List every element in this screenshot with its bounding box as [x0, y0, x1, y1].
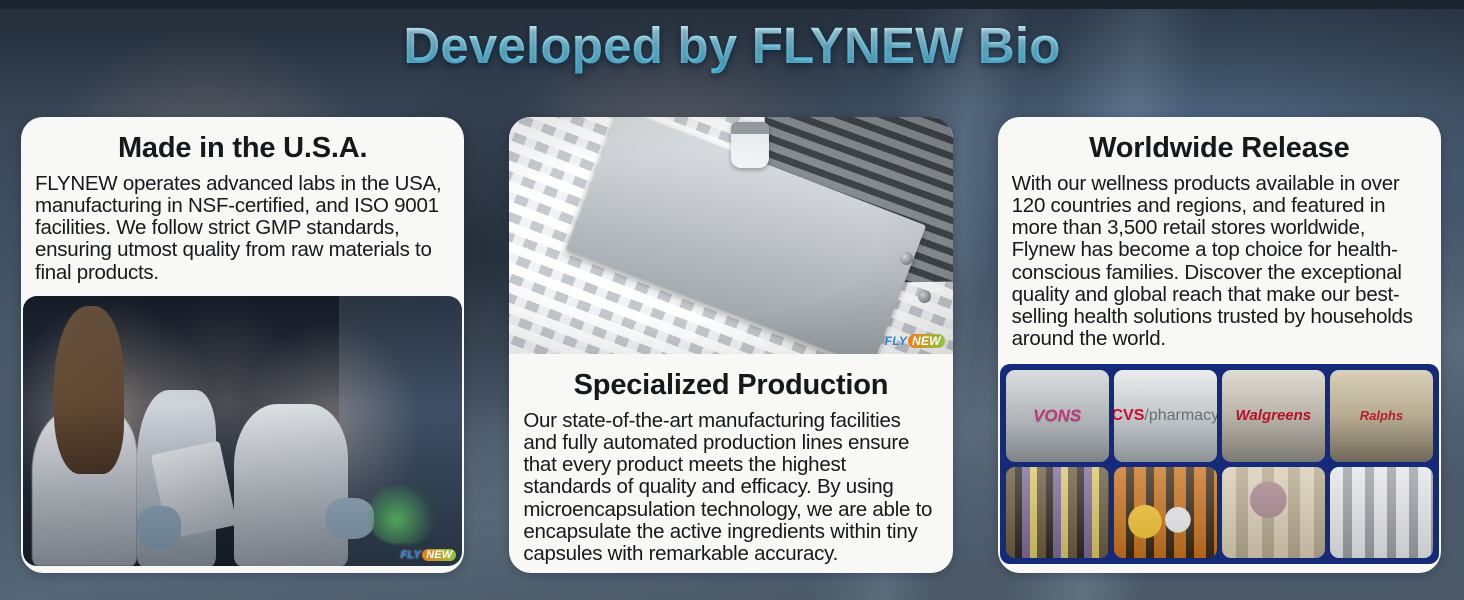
card-worldwide-release: Worldwide Release With our wellness prod…	[998, 117, 1441, 573]
card-title-worldwide-release: Worldwide Release	[998, 117, 1441, 169]
capsule-filling-machine-photo: FLY NEW	[509, 117, 952, 354]
top-dark-band	[0, 0, 1464, 9]
feature-cards-row: Made in the U.S.A. FLYNEW operates advan…	[21, 117, 1441, 573]
card-title-specialized-production: Specialized Production	[509, 354, 952, 406]
watermark-suffix: NEW	[422, 549, 456, 561]
card-body-worldwide-release: With our wellness products available in …	[998, 169, 1441, 356]
tile-gloss-decor	[1114, 467, 1217, 559]
promo-banner: Developed by FLYNEW Bio Made in the U.S.…	[0, 0, 1464, 600]
walgreens-logo-text: Walgreens	[1236, 407, 1312, 424]
photo-vignette-overlay	[509, 117, 952, 354]
tile-walgreens-storefront: Walgreens	[1222, 370, 1325, 462]
watermark-prefix: FLY	[885, 334, 907, 348]
card-body-specialized-production: Our state-of-the-art manufacturing facil…	[509, 406, 952, 571]
page-title: Developed by FLYNEW Bio	[403, 18, 1060, 74]
tile-gloss-decor	[1006, 467, 1109, 559]
cvs-brand-text: CVS	[1114, 407, 1145, 424]
vons-logo-text: VONS	[1033, 406, 1081, 426]
watermark-suffix: NEW	[908, 334, 945, 348]
tile-supplement-shelf-2	[1114, 467, 1217, 559]
laboratory-scientists-photo: FLY NEW	[23, 296, 462, 566]
tile-gloss-decor	[1330, 467, 1433, 559]
tile-ralphs-storefront: Ralphs	[1330, 370, 1433, 462]
tile-supplement-shelf-4	[1330, 467, 1433, 559]
headline-container: Developed by FLYNEW Bio	[0, 18, 1464, 74]
tile-gloss-decor	[1222, 467, 1325, 559]
tile-vons-storefront: VONS	[1006, 370, 1109, 462]
card-body-made-in-usa: FLYNEW operates advanced labs in the USA…	[21, 169, 464, 290]
cvs-pharmacy-text: /pharmacy	[1144, 407, 1216, 424]
card-title-made-in-usa: Made in the U.S.A.	[21, 117, 464, 169]
card-made-in-usa: Made in the U.S.A. FLYNEW operates advan…	[21, 117, 464, 573]
flynew-watermark-card2: FLY NEW	[885, 334, 945, 348]
tile-cvs-pharmacy-storefront: CVS/pharmacy	[1114, 370, 1217, 462]
tile-supplement-shelf-1	[1006, 467, 1109, 559]
tile-supplement-shelf-3	[1222, 467, 1325, 559]
ralphs-logo-text: Ralphs	[1360, 408, 1403, 423]
cvs-logo-text: CVS/pharmacy	[1114, 407, 1217, 425]
retail-store-collage: VONS CVS/pharmacy Walgreens Ralphs	[1000, 364, 1439, 564]
flynew-watermark-card1: FLY NEW	[401, 549, 457, 561]
watermark-prefix: FLY	[401, 549, 422, 561]
card-specialized-production: FLY NEW Specialized Production Our state…	[509, 117, 952, 573]
photo-shading-overlay	[23, 296, 462, 566]
